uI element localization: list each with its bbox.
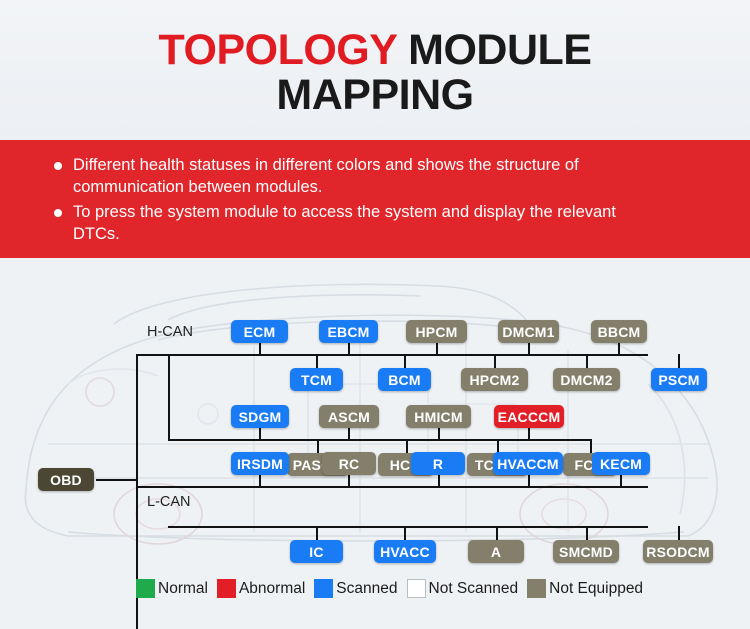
stem-row1-ecm bbox=[259, 343, 261, 355]
module-bbcm[interactable]: BBCM bbox=[591, 320, 647, 343]
module-hvacc[interactable]: HVACC bbox=[374, 540, 436, 563]
stem-row1-hpcm bbox=[436, 343, 438, 355]
stem-row2-pscm bbox=[678, 354, 680, 368]
module-dmcm1[interactable]: DMCM1 bbox=[498, 320, 559, 343]
bullet-dot-icon bbox=[54, 209, 62, 217]
legend-label-not-scanned: Not Scanned bbox=[429, 580, 519, 598]
module-kecm[interactable]: KECM bbox=[592, 452, 650, 475]
stem-row6-hvacc bbox=[404, 526, 406, 540]
module-tcm[interactable]: TCM bbox=[290, 368, 343, 391]
module-label: RSODCM bbox=[646, 544, 709, 560]
module-ecm[interactable]: ECM bbox=[231, 320, 288, 343]
module-label: EACCCM bbox=[498, 409, 561, 425]
module-label: HVACC bbox=[380, 544, 430, 560]
module-label: BBCM bbox=[598, 324, 641, 340]
legend-swatch-not-equipped bbox=[527, 579, 546, 598]
bus-line-l-can bbox=[136, 486, 648, 488]
page-title-topology: TOPOLOGY bbox=[159, 26, 397, 74]
legend-swatch-abnormal bbox=[217, 579, 236, 598]
label-h-can: H-CAN bbox=[147, 324, 193, 340]
module-sdgm[interactable]: SDGM bbox=[231, 405, 289, 428]
page-title-mapping: MAPPING bbox=[276, 71, 473, 119]
stem-row6-ic bbox=[316, 526, 318, 540]
module-hvaccm[interactable]: HVACCM bbox=[493, 452, 563, 475]
module-bcm[interactable]: BCM bbox=[378, 368, 431, 391]
module-label: PSCM bbox=[658, 372, 699, 388]
topology-diagram: Normal Abnormal Scanned Not Scanned Not … bbox=[0, 258, 750, 629]
module-ebcm[interactable]: EBCM bbox=[319, 320, 378, 343]
banner-bullet-2-text: To press the system module to access the… bbox=[73, 201, 633, 245]
stem-row5-rc bbox=[348, 475, 350, 487]
legend-label-not-equipped: Not Equipped bbox=[549, 580, 643, 598]
banner-bullet-2: To press the system module to access the… bbox=[0, 201, 750, 245]
legend-item-normal: Normal bbox=[136, 579, 208, 598]
bus-trunk-secondary-vertical bbox=[168, 354, 170, 440]
module-irsdm[interactable]: IRSDM bbox=[231, 452, 289, 475]
page-header: TOPOLOGY MODULE MAPPING bbox=[0, 0, 750, 140]
stem-row5-r bbox=[438, 475, 440, 487]
banner-bullet-1-text: Different health statuses in different c… bbox=[73, 154, 633, 198]
stem-row5-irsdm bbox=[259, 475, 261, 487]
description-banner: Different health statuses in different c… bbox=[0, 140, 750, 258]
page-title-module: MODULE bbox=[397, 26, 592, 74]
module-eacccm[interactable]: EACCCM bbox=[494, 405, 564, 428]
module-label: ECM bbox=[244, 324, 276, 340]
legend-item-not-equipped: Not Equipped bbox=[527, 579, 643, 598]
legend-label-abnormal: Abnormal bbox=[239, 580, 305, 598]
stem-row6-rsodcm bbox=[678, 526, 680, 540]
stem-row2-hpcm2 bbox=[494, 354, 496, 368]
module-label: A bbox=[491, 544, 501, 560]
module-label: IC bbox=[309, 544, 323, 560]
module-label: HPCM2 bbox=[469, 372, 519, 388]
stem-row3-sdgm bbox=[259, 428, 261, 440]
page-title: TOPOLOGY MODULE bbox=[159, 28, 592, 73]
stem-row4-hcm bbox=[406, 439, 408, 453]
module-label: KECM bbox=[600, 456, 642, 472]
stem-row2-dmcm2 bbox=[586, 354, 588, 368]
stem-row3-hmicm bbox=[438, 428, 440, 440]
module-label: DMCM2 bbox=[560, 372, 612, 388]
stem-row4-tcicm bbox=[497, 439, 499, 453]
bullet-dot-icon bbox=[54, 162, 62, 170]
module-label: OBD bbox=[50, 472, 82, 488]
legend-item-not-scanned: Not Scanned bbox=[407, 579, 519, 598]
module-label: EBCM bbox=[327, 324, 369, 340]
module-label: HMICM bbox=[414, 409, 462, 425]
module-label: HPCM bbox=[415, 324, 457, 340]
module-pscm[interactable]: PSCM bbox=[651, 368, 707, 391]
module-obd[interactable]: OBD bbox=[38, 468, 94, 491]
module-label: HVACCM bbox=[497, 456, 559, 472]
stem-row5-kecm bbox=[620, 475, 622, 487]
legend-swatch-normal bbox=[136, 579, 155, 598]
label-l-can: L-CAN bbox=[147, 494, 191, 510]
stem-row4-fcm bbox=[590, 439, 592, 453]
banner-bullet-1: Different health statuses in different c… bbox=[0, 154, 750, 198]
module-label: BCM bbox=[388, 372, 420, 388]
module-ic[interactable]: IC bbox=[290, 540, 343, 563]
legend-item-abnormal: Abnormal bbox=[217, 579, 305, 598]
stem-row1-bbcm bbox=[618, 343, 620, 355]
legend-swatch-scanned bbox=[314, 579, 333, 598]
stem-row2-tcm bbox=[316, 354, 318, 368]
stem-row6-a bbox=[496, 526, 498, 540]
module-label: TCM bbox=[301, 372, 332, 388]
stem-row3-ascm bbox=[348, 428, 350, 440]
bus-line-h-can bbox=[136, 354, 648, 356]
module-dmcm2[interactable]: DMCM2 bbox=[553, 368, 620, 391]
stem-row1-ebcm bbox=[348, 343, 350, 355]
legend-item-scanned: Scanned bbox=[314, 579, 397, 598]
module-label: RC bbox=[339, 456, 360, 472]
stem-row1-dmcm1 bbox=[528, 343, 530, 355]
module-a[interactable]: A bbox=[468, 540, 524, 563]
module-label: R bbox=[433, 456, 443, 472]
module-label: SMCMD bbox=[559, 544, 613, 560]
module-rc[interactable]: RC bbox=[322, 452, 376, 475]
module-label: DMCM1 bbox=[502, 324, 554, 340]
module-smcmd[interactable]: SMCMD bbox=[553, 540, 619, 563]
legend-swatch-not-scanned bbox=[407, 579, 426, 598]
stem-row6-smcmd bbox=[586, 526, 588, 540]
stem-row2-bcm bbox=[404, 354, 406, 368]
module-hpcm[interactable]: HPCM bbox=[406, 320, 467, 343]
stem-row5-hvaccm bbox=[528, 475, 530, 487]
page-title-line2: MAPPING bbox=[276, 73, 473, 118]
status-legend: Normal Abnormal Scanned Not Scanned Not … bbox=[136, 579, 652, 598]
module-label: IRSDM bbox=[237, 456, 283, 472]
legend-label-normal: Normal bbox=[158, 580, 208, 598]
module-hmicm[interactable]: HMICM bbox=[406, 405, 471, 428]
module-rsodcm[interactable]: RSODCM bbox=[643, 540, 713, 563]
module-r[interactable]: R bbox=[411, 452, 465, 475]
module-hpcm2[interactable]: HPCM2 bbox=[461, 368, 528, 391]
bus-line-obd-link bbox=[96, 479, 138, 481]
legend-label-scanned: Scanned bbox=[336, 580, 397, 598]
bus-line-bottom bbox=[168, 526, 648, 528]
module-label: ASCM bbox=[328, 409, 370, 425]
module-label: SDGM bbox=[239, 409, 282, 425]
module-ascm[interactable]: ASCM bbox=[319, 405, 379, 428]
stem-row3-eacccm bbox=[528, 428, 530, 440]
stem-row4-pascm bbox=[317, 439, 319, 453]
